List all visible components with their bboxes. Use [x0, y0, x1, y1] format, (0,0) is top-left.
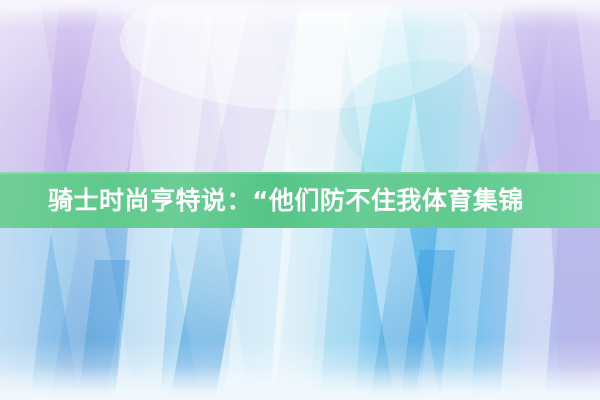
headline-banner: 骑士时尚亨特说：“他们防不住我体育集锦 [0, 172, 600, 228]
background-lower [0, 200, 600, 400]
banner-top-edge [0, 172, 600, 174]
screenshot-canvas: 骑士时尚亨特说：“他们防不住我体育集锦 [0, 0, 600, 400]
headline-title: 骑士时尚亨特说：“他们防不住我体育集锦 [48, 188, 524, 213]
